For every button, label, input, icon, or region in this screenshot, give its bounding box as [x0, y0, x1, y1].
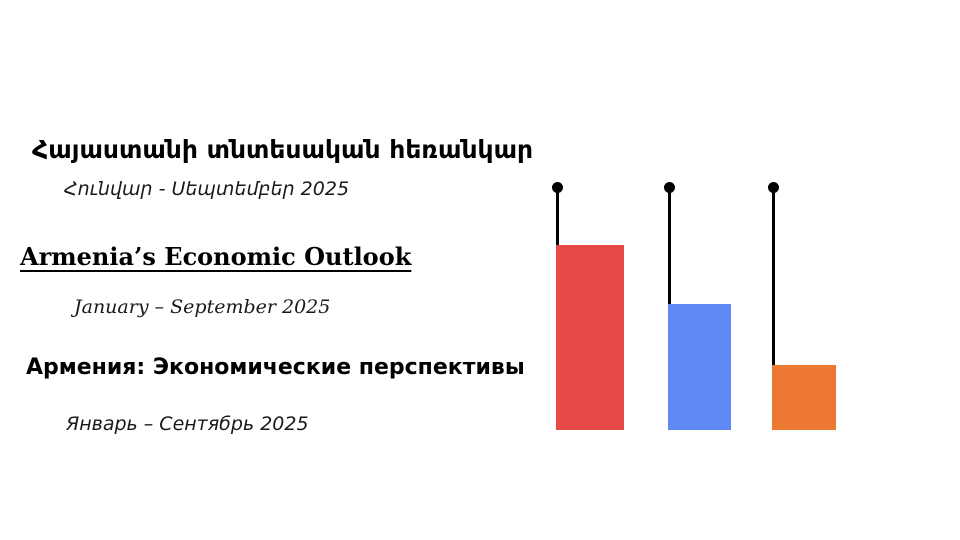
bar-2 [668, 304, 731, 430]
bar-group-2 [668, 187, 731, 430]
bar-group-1 [556, 187, 624, 430]
decorative-bar-chart [540, 150, 860, 430]
page-subtitle-russian: Январь – Сентябрь 2025 [66, 414, 309, 436]
page-title-russian: Армения: Экономические перспективы [26, 355, 525, 380]
bar-1 [556, 245, 624, 430]
bar-3 [772, 365, 836, 430]
bar-group-3 [772, 187, 836, 430]
page-title-armenian: Հայաստանի տնտեսական հեռանկար [32, 136, 533, 165]
page-title-english: Armenia’s Economic Outlook [20, 243, 411, 271]
page-subtitle-armenian: Հունվար - Սեպտեմբեր 2025 [64, 179, 349, 201]
pin-dot-icon-1 [552, 182, 563, 193]
page-subtitle-english: January – September 2025 [74, 297, 330, 319]
presentation-slide: Հայաստանի տնտեսական հեռանկար Հունվար - Ս… [0, 0, 960, 540]
pin-dot-icon-3 [768, 182, 779, 193]
title-text-block: Հայաստանի տնտեսական հեռանկար Հունվար - Ս… [0, 0, 560, 540]
pin-dot-icon-2 [664, 182, 675, 193]
